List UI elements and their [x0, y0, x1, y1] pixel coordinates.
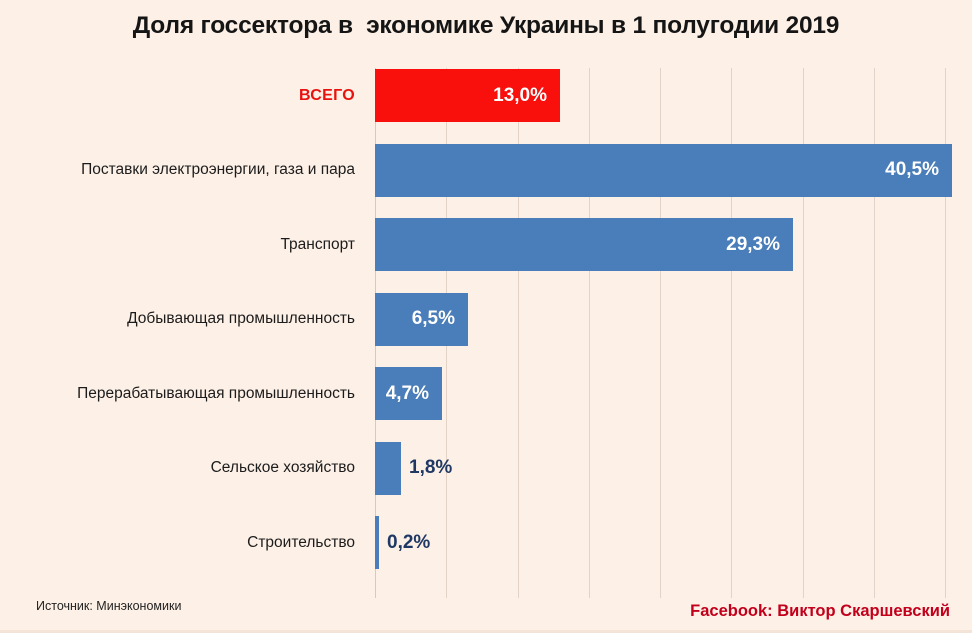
bar-row: Строительство0,2%	[0, 516, 972, 569]
bar-wrapper: 0,2%	[375, 516, 430, 569]
bar: 13,0%	[375, 69, 560, 122]
bar: 4,7%	[375, 367, 442, 420]
bar-value-label: 0,2%	[379, 532, 430, 554]
bar-value-label: 13,0%	[493, 85, 560, 107]
bar-value-label: 6,5%	[412, 308, 468, 330]
category-label: Сельское хозяйство	[5, 459, 355, 476]
bar	[375, 516, 379, 569]
bar-row: ВСЕГО13,0%	[0, 69, 972, 122]
bar-row: Перерабатывающая промышленность4,7%	[0, 367, 972, 420]
bar-wrapper: 1,8%	[375, 442, 452, 495]
bar-row: Сельское хозяйство1,8%	[0, 442, 972, 495]
chart-canvas: Доля госсектора в экономике Украины в 1 …	[0, 0, 972, 633]
chart-title: Доля госсектора в экономике Украины в 1 …	[0, 12, 972, 40]
bar-row: Поставки электроэнергии, газа и пара40,5…	[0, 144, 972, 197]
source-note: Источник: Минэкономики	[36, 599, 181, 613]
bar-wrapper: 40,5%	[375, 144, 952, 197]
bar-value-label: 40,5%	[885, 159, 952, 181]
bar-value-label: 29,3%	[726, 234, 793, 256]
bar-value-label: 4,7%	[386, 383, 442, 405]
bar-row: Транспорт29,3%	[0, 218, 972, 271]
bar: 29,3%	[375, 218, 793, 271]
bar-wrapper: 4,7%	[375, 367, 442, 420]
bar-rows: ВСЕГО13,0%Поставки электроэнергии, газа …	[0, 68, 972, 598]
bar-value-label: 1,8%	[401, 457, 452, 479]
facebook-credit: Facebook: Виктор Скаршевский	[690, 602, 950, 621]
bar	[375, 442, 401, 495]
bar-row: Добывающая промышленность6,5%	[0, 293, 972, 346]
category-label: Добывающая промышленность	[5, 310, 355, 327]
category-label: Транспорт	[5, 236, 355, 253]
bar-wrapper: 29,3%	[375, 218, 793, 271]
category-label: Строительство	[5, 534, 355, 551]
category-label: ВСЕГО	[5, 87, 355, 105]
category-label: Перерабатывающая промышленность	[5, 385, 355, 402]
category-label: Поставки электроэнергии, газа и пара	[5, 161, 355, 178]
bar: 40,5%	[375, 144, 952, 197]
bar: 6,5%	[375, 293, 468, 346]
bar-wrapper: 13,0%	[375, 69, 560, 122]
bar-wrapper: 6,5%	[375, 293, 468, 346]
